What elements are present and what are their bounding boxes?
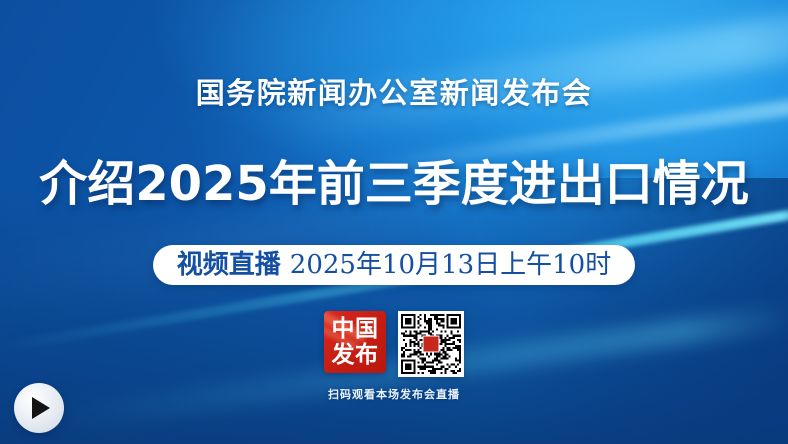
qr-code[interactable] xyxy=(398,311,464,377)
live-badge-datetime: 2025年10月13日上午10时 xyxy=(290,252,611,278)
press-conference-kicker: 国务院新闻办公室新闻发布会 xyxy=(0,70,788,112)
live-schedule-badge: 视频直播 2025年10月13日上午10时 xyxy=(153,245,635,285)
page-title: 介绍2025年前三季度进出口情况 xyxy=(0,160,788,208)
china-release-logo: 中国 发布 xyxy=(324,311,386,373)
livestream-poster: 国务院新闻办公室新闻发布会 介绍2025年前三季度进出口情况 视频直播 2025… xyxy=(0,0,788,444)
play-icon xyxy=(32,397,50,419)
qr-center-logo xyxy=(423,336,440,353)
brand-and-qr-row: 中国 发布 xyxy=(0,311,788,377)
poster-content: 国务院新闻办公室新闻发布会 介绍2025年前三季度进出口情况 视频直播 2025… xyxy=(0,0,788,444)
scan-instruction-text: 扫码观看本场发布会直播 xyxy=(0,386,788,402)
live-badge-row: 视频直播 2025年10月13日上午10时 xyxy=(0,245,788,285)
live-badge-label: 视频直播 xyxy=(177,252,281,278)
logo-line-2: 发布 xyxy=(332,342,379,368)
logo-line-1: 中国 xyxy=(332,316,379,342)
play-button[interactable] xyxy=(14,383,64,433)
